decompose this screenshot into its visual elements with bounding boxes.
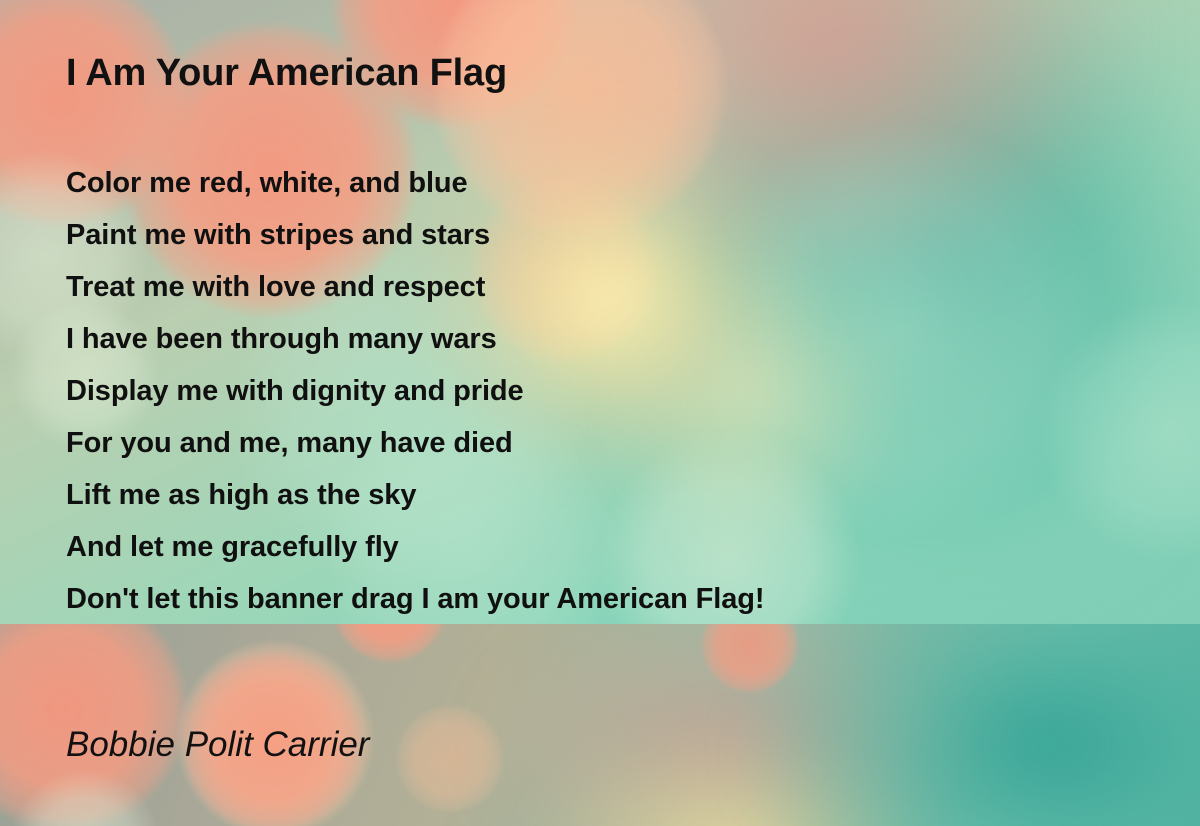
poem-line: Lift me as high as the sky xyxy=(66,469,764,521)
poem-body: Color me red, white, and blue Paint me w… xyxy=(66,157,764,625)
poem-author-name: Bobbie Polit Carrier xyxy=(66,724,369,766)
poem-card: I Am Your American Flag Color me red, wh… xyxy=(0,0,1200,826)
poem-line: Color me red, white, and blue xyxy=(66,157,764,209)
poem-title: I Am Your American Flag xyxy=(66,54,507,92)
poem-line: Display me with dignity and pride xyxy=(66,365,764,417)
poem-line: And let me gracefully fly xyxy=(66,521,764,573)
poem-line: For you and me, many have died xyxy=(66,417,764,469)
poem-line: Don't let this banner drag I am your Ame… xyxy=(66,573,764,625)
poem-line: I have been through many wars xyxy=(66,313,764,365)
poem-line: Paint me with stripes and stars xyxy=(66,209,764,261)
text-layer: I Am Your American Flag Color me red, wh… xyxy=(0,0,1200,826)
poem-line: Treat me with love and respect xyxy=(66,261,764,313)
